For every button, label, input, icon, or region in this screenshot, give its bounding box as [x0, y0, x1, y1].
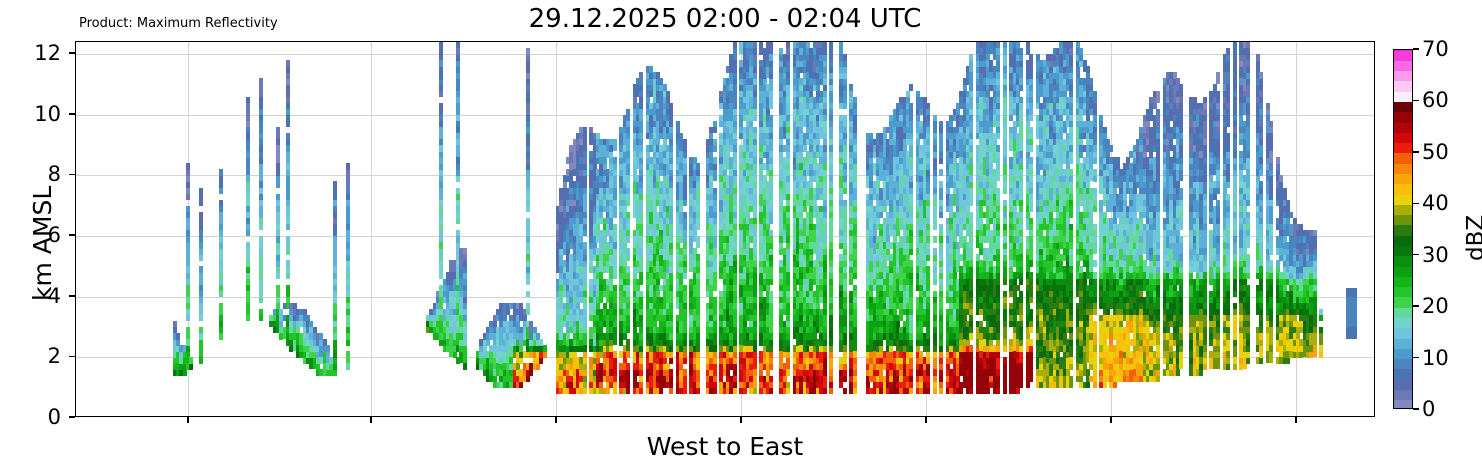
reflectivity-cell [639, 376, 643, 382]
reflectivity-cell [639, 382, 643, 388]
reflectivity-cell [246, 279, 250, 285]
reflectivity-cell [733, 188, 737, 194]
reflectivity-cell [786, 272, 790, 284]
reflectivity-cell [753, 163, 757, 169]
reflectivity-cell [933, 303, 937, 315]
reflectivity-cell [829, 121, 833, 127]
reflectivity-cell [909, 236, 913, 242]
reflectivity-cell [909, 84, 913, 90]
reflectivity-cell [639, 315, 643, 321]
reflectivity-cell [843, 297, 847, 303]
reflectivity-cell [219, 212, 223, 224]
reflectivity-cell [926, 224, 930, 230]
reflectivity-cell [1003, 363, 1007, 393]
reflectivity-cell [189, 357, 193, 363]
reflectivity-cell [969, 303, 973, 309]
reflectivity-profile-column [1003, 42, 1007, 417]
reflectivity-cell [769, 279, 773, 285]
reflectivity-cell [769, 200, 773, 206]
reflectivity-cell [733, 339, 737, 345]
reflectivity-cell [346, 279, 350, 285]
reflectivity-cell [933, 163, 937, 169]
reflectivity-cell [1003, 206, 1007, 212]
reflectivity-profile-column [463, 42, 467, 417]
reflectivity-cell [753, 84, 757, 90]
reflectivity-cell [996, 72, 1000, 78]
reflectivity-cell [669, 357, 673, 363]
reflectivity-cell [333, 327, 337, 333]
reflectivity-cell [933, 272, 937, 278]
reflectivity-cell [639, 194, 643, 200]
reflectivity-cell [753, 42, 757, 48]
reflectivity-cell [246, 139, 250, 151]
reflectivity-cell [733, 139, 737, 145]
reflectivity-cell [696, 363, 700, 369]
reflectivity-cell [333, 303, 337, 315]
reflectivity-cell [996, 357, 1000, 369]
reflectivity-cell [583, 357, 587, 363]
reflectivity-cell [786, 369, 790, 375]
reflectivity-cell [969, 333, 973, 339]
reflectivity-cell [696, 212, 700, 218]
reflectivity-cell [639, 309, 643, 315]
reflectivity-cell [926, 388, 930, 394]
reflectivity-cell [769, 254, 773, 260]
reflectivity-cell [613, 200, 617, 206]
reflectivity-cell [769, 151, 773, 157]
reflectivity-cell [753, 297, 757, 303]
reflectivity-cell [853, 236, 857, 242]
reflectivity-cell [939, 260, 943, 266]
reflectivity-cell [1003, 115, 1007, 121]
reflectivity-cell [713, 376, 717, 382]
radar-cross-section-figure: 29.12.2025 02:00 - 02:04 UTC Product: Ma… [0, 0, 1482, 470]
reflectivity-cell [823, 218, 827, 224]
reflectivity-cell [259, 97, 263, 103]
reflectivity-cell [926, 103, 930, 109]
reflectivity-cell [823, 42, 827, 48]
reflectivity-cell [199, 333, 203, 339]
reflectivity-cell [626, 200, 630, 206]
reflectivity-cell [996, 260, 1000, 266]
reflectivity-cell [259, 139, 263, 145]
reflectivity-cell [333, 369, 337, 375]
reflectivity-cell [626, 151, 630, 157]
reflectivity-cell [199, 212, 203, 230]
reflectivity-cell [909, 279, 913, 285]
reflectivity-cell [1003, 345, 1007, 351]
reflectivity-cell [969, 212, 973, 224]
reflectivity-cell [853, 109, 857, 115]
reflectivity-cell [823, 145, 827, 151]
reflectivity-cell [939, 133, 943, 151]
reflectivity-cell [696, 297, 700, 315]
reflectivity-cell [713, 218, 717, 224]
reflectivity-cell [926, 339, 930, 345]
reflectivity-cell [713, 315, 717, 321]
reflectivity-cell [933, 376, 937, 382]
reflectivity-cell [843, 388, 847, 394]
reflectivity-cell [626, 297, 630, 303]
reflectivity-cell [219, 206, 223, 212]
reflectivity-cell [219, 236, 223, 242]
reflectivity-cell [733, 382, 737, 388]
reflectivity-cell [733, 66, 737, 72]
reflectivity-cell [1003, 42, 1007, 48]
reflectivity-cell [853, 139, 857, 145]
reflectivity-cell [843, 54, 847, 60]
reflectivity-cell [853, 303, 857, 309]
reflectivity-cell [199, 315, 203, 321]
reflectivity-cell [829, 266, 833, 272]
reflectivity-cell [786, 206, 790, 212]
reflectivity-cell [613, 157, 617, 163]
reflectivity-cell [969, 133, 973, 139]
reflectivity-cell [639, 339, 643, 345]
reflectivity-cell [926, 175, 930, 181]
reflectivity-cell [583, 133, 587, 151]
reflectivity-cell [696, 382, 700, 388]
reflectivity-cell [346, 309, 350, 315]
reflectivity-cell [933, 351, 937, 357]
reflectivity-cell [753, 218, 757, 224]
reflectivity-cell [583, 181, 587, 187]
reflectivity-cell [246, 103, 250, 121]
reflectivity-cell [259, 315, 263, 321]
reflectivity-cell [926, 376, 930, 382]
reflectivity-cell [853, 357, 857, 363]
reflectivity-cell [669, 376, 673, 388]
reflectivity-cell [346, 291, 350, 297]
reflectivity-cell [463, 297, 467, 303]
reflectivity-cell [996, 345, 1000, 351]
reflectivity-cell [786, 181, 790, 193]
reflectivity-cell [626, 254, 630, 260]
reflectivity-cell [199, 194, 203, 206]
reflectivity-cell [683, 248, 687, 254]
reflectivity-cell [843, 345, 847, 351]
reflectivity-cell [639, 103, 643, 109]
reflectivity-cell [996, 84, 1000, 90]
reflectivity-cell [626, 157, 630, 163]
reflectivity-cell [969, 97, 973, 109]
reflectivity-cell [639, 357, 643, 363]
reflectivity-cell [823, 121, 827, 133]
reflectivity-cell [843, 84, 847, 90]
reflectivity-cell [683, 175, 687, 181]
reflectivity-cell [753, 175, 757, 181]
reflectivity-cell [909, 181, 913, 187]
reflectivity-cell [786, 194, 790, 200]
reflectivity-cell [1003, 54, 1007, 66]
reflectivity-cell [333, 212, 337, 218]
reflectivity-cell [843, 260, 847, 266]
reflectivity-cell [769, 230, 773, 236]
reflectivity-cell [853, 97, 857, 103]
reflectivity-cell [933, 248, 937, 254]
reflectivity-cell [346, 266, 350, 272]
reflectivity-cell [829, 260, 833, 266]
reflectivity-cell [583, 218, 587, 224]
reflectivity-cell [543, 345, 547, 351]
reflectivity-cell [696, 206, 700, 212]
reflectivity-cell [219, 272, 223, 278]
reflectivity-cell [853, 157, 857, 163]
reflectivity-cell [769, 115, 773, 127]
reflectivity-cell [626, 133, 630, 139]
reflectivity-cell [696, 345, 700, 351]
reflectivity-cell [639, 363, 643, 369]
reflectivity-cell [969, 188, 973, 206]
reflectivity-cell [933, 333, 937, 339]
reflectivity-cell [939, 121, 943, 127]
reflectivity-cell [769, 357, 773, 363]
reflectivity-cell [639, 169, 643, 175]
reflectivity-cell [829, 351, 833, 357]
reflectivity-cell [1003, 200, 1007, 206]
reflectivity-cell [683, 254, 687, 260]
reflectivity-cell [843, 181, 847, 187]
reflectivity-cell [829, 285, 833, 297]
reflectivity-cell [843, 315, 847, 327]
reflectivity-cell [769, 206, 773, 212]
reflectivity-cell [786, 133, 790, 139]
reflectivity-cell [829, 188, 833, 194]
reflectivity-cell [696, 357, 700, 363]
reflectivity-cell [259, 121, 263, 133]
reflectivity-cell [939, 321, 943, 333]
reflectivity-cell [259, 103, 263, 109]
reflectivity-cell [259, 181, 263, 187]
reflectivity-cell [219, 321, 223, 327]
reflectivity-cell [996, 91, 1000, 97]
reflectivity-cell [909, 169, 913, 175]
reflectivity-cell [996, 272, 1000, 278]
reflectivity-cell [996, 42, 1000, 48]
reflectivity-cell [996, 339, 1000, 345]
reflectivity-cell [769, 60, 773, 66]
reflectivity-cell [843, 163, 847, 169]
reflectivity-cell [933, 388, 937, 394]
reflectivity-cell [733, 145, 737, 151]
reflectivity-cell [996, 230, 1000, 236]
reflectivity-profile-column [713, 42, 717, 417]
reflectivity-cell [933, 194, 937, 200]
reflectivity-cell [769, 72, 773, 78]
reflectivity-cell [853, 145, 857, 151]
reflectivity-cell [259, 188, 263, 194]
reflectivity-cell [753, 48, 757, 54]
reflectivity-cell [199, 327, 203, 333]
reflectivity-cell [463, 272, 467, 278]
reflectivity-cell [786, 212, 790, 218]
reflectivity-cell [909, 388, 913, 394]
reflectivity-cell [639, 321, 643, 327]
reflectivity-cell [769, 157, 773, 163]
reflectivity-cell [683, 260, 687, 266]
reflectivity-cell [1003, 327, 1007, 339]
reflectivity-cell [259, 157, 263, 163]
reflectivity-cell [346, 200, 350, 206]
reflectivity-cell [639, 224, 643, 236]
reflectivity-cell [996, 157, 1000, 169]
reflectivity-cell [909, 248, 913, 254]
reflectivity-cell [669, 133, 673, 139]
reflectivity-cell [583, 382, 587, 388]
reflectivity-cell [733, 218, 737, 224]
reflectivity-cell [853, 291, 857, 297]
reflectivity-cell [696, 279, 700, 297]
reflectivity-cell [683, 230, 687, 242]
reflectivity-cell [1003, 139, 1007, 157]
reflectivity-cell [996, 127, 1000, 133]
reflectivity-cell [829, 72, 833, 78]
reflectivity-cell [259, 309, 263, 315]
reflectivity-cell [909, 157, 913, 163]
reflectivity-cell [769, 260, 773, 266]
reflectivity-cell [843, 66, 847, 72]
reflectivity-cell [333, 333, 337, 339]
reflectivity-cell [933, 369, 937, 375]
reflectivity-cell [823, 78, 827, 84]
reflectivity-cell [769, 133, 773, 139]
reflectivity-cell [683, 345, 687, 351]
reflectivity-cell [626, 315, 630, 327]
reflectivity-cell [753, 236, 757, 254]
reflectivity-cell [996, 115, 1000, 121]
reflectivity-cell [713, 357, 717, 363]
reflectivity-cell [843, 206, 847, 236]
reflectivity-cell [613, 285, 617, 291]
reflectivity-cell [996, 48, 1000, 54]
reflectivity-cell [333, 339, 337, 351]
reflectivity-cell [853, 218, 857, 224]
reflectivity-cell [259, 224, 263, 230]
reflectivity-cell [786, 260, 790, 272]
reflectivity-cell [769, 78, 773, 90]
reflectivity-cell [333, 266, 337, 272]
reflectivity-cell [933, 345, 937, 351]
reflectivity-cell [823, 315, 827, 327]
reflectivity-cell [639, 333, 643, 339]
reflectivity-cell [626, 291, 630, 297]
reflectivity-cell [996, 236, 1000, 242]
reflectivity-cell [753, 66, 757, 72]
reflectivity-cell [786, 151, 790, 157]
reflectivity-cell [626, 272, 630, 278]
reflectivity-cell [733, 72, 737, 78]
reflectivity-cell [853, 327, 857, 351]
reflectivity-cell [199, 357, 203, 363]
reflectivity-cell [933, 157, 937, 163]
reflectivity-cell [333, 200, 337, 206]
reflectivity-cell [769, 363, 773, 369]
reflectivity-cell [853, 206, 857, 212]
reflectivity-cell [969, 54, 973, 60]
reflectivity-cell [969, 60, 973, 72]
reflectivity-cell [733, 133, 737, 139]
reflectivity-cell [713, 388, 717, 394]
reflectivity-cell [333, 291, 337, 297]
reflectivity-cell [639, 91, 643, 97]
reflectivity-cell [753, 303, 757, 309]
reflectivity-cell [1003, 303, 1007, 309]
reflectivity-cell [246, 121, 250, 127]
reflectivity-cell [733, 42, 737, 48]
reflectivity-cell [683, 200, 687, 206]
reflectivity-cell [696, 351, 700, 357]
reflectivity-cell [669, 139, 673, 145]
reflectivity-profile-column [346, 42, 350, 417]
reflectivity-cell [346, 297, 350, 303]
reflectivity-cell [669, 303, 673, 315]
reflectivity-cell [1003, 236, 1007, 242]
reflectivity-cell [996, 297, 1000, 303]
reflectivity-cell [753, 78, 757, 84]
reflectivity-cell [1003, 188, 1007, 194]
reflectivity-cell [1003, 230, 1007, 236]
reflectivity-cell [626, 369, 630, 393]
reflectivity-cell [583, 291, 587, 297]
reflectivity-cell [753, 272, 757, 296]
reflectivity-cell [669, 272, 673, 284]
reflectivity-cell [246, 218, 250, 224]
reflectivity-cell [753, 206, 757, 218]
reflectivity-cell [639, 175, 643, 181]
reflectivity-cell [1003, 309, 1007, 321]
reflectivity-cell [683, 272, 687, 278]
reflectivity-cell [829, 66, 833, 72]
reflectivity-cell [843, 175, 847, 181]
reflectivity-cell [683, 188, 687, 200]
reflectivity-cell [753, 181, 757, 187]
reflectivity-cell [713, 333, 717, 345]
reflectivity-cell [669, 163, 673, 169]
reflectivity-cell [843, 254, 847, 260]
reflectivity-cell [669, 321, 673, 327]
reflectivity-cell [843, 115, 847, 127]
reflectivity-cell [829, 91, 833, 103]
reflectivity-cell [969, 72, 973, 90]
reflectivity-cell [933, 357, 937, 369]
reflectivity-cell [639, 97, 643, 103]
reflectivity-cell [829, 103, 833, 109]
reflectivity-cell [1003, 260, 1007, 266]
reflectivity-cell [639, 236, 643, 248]
reflectivity-cell [733, 345, 737, 351]
reflectivity-cell [933, 321, 937, 327]
reflectivity-cell [969, 115, 973, 121]
reflectivity-cell [753, 224, 757, 230]
reflectivity-cell [786, 42, 790, 48]
reflectivity-cell [996, 266, 1000, 272]
reflectivity-cell [926, 357, 930, 363]
reflectivity-cell [996, 103, 1000, 109]
reflectivity-cell [199, 285, 203, 291]
reflectivity-cell [823, 181, 827, 199]
reflectivity-cell [823, 60, 827, 66]
chart-subtitle: Product: Maximum Reflectivity [79, 16, 278, 31]
reflectivity-cell [996, 151, 1000, 157]
reflectivity-cell [786, 139, 790, 145]
reflectivity-profile-column [669, 42, 673, 417]
reflectivity-cell [926, 139, 930, 145]
reflectivity-cell [939, 345, 943, 351]
reflectivity-cell [843, 272, 847, 278]
reflectivity-cell [639, 163, 643, 169]
reflectivity-cell [1003, 66, 1007, 72]
reflectivity-cell [933, 139, 937, 145]
